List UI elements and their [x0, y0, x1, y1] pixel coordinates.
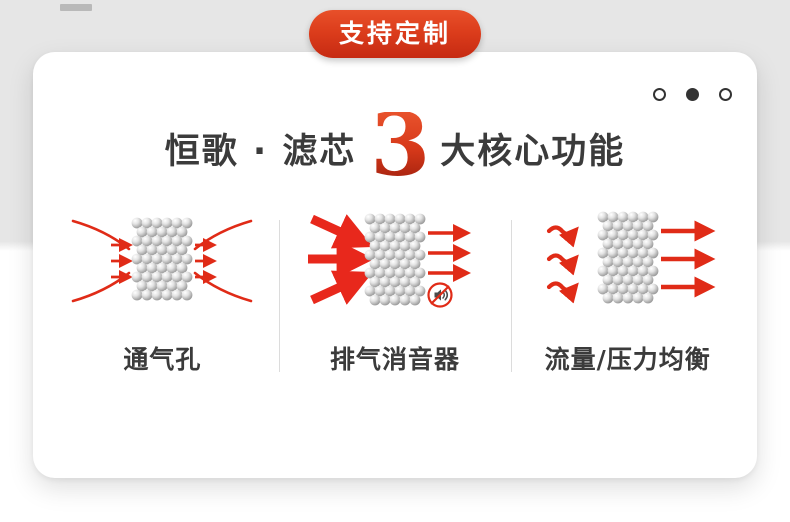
support-customization-badge[interactable]: 支持定制	[309, 10, 481, 58]
feature-flow-pressure-balance-label: 流量/压力均衡	[545, 340, 711, 376]
mute-icon	[429, 284, 452, 307]
feature-flow-pressure-balance-art	[533, 200, 723, 322]
promo-slide: 支持定制 恒歌 · 滤芯 3 大核心功能	[0, 0, 790, 522]
top-tab-mark	[60, 4, 92, 11]
carousel-dot-1[interactable]	[653, 88, 666, 101]
carousel-dots	[653, 88, 732, 101]
filter-media-column	[132, 218, 193, 301]
filter-column-curved-flow-icon	[67, 205, 257, 317]
filter-column-wave-to-straight-flow-icon	[533, 205, 723, 317]
filter-column-thick-arrows-mute-icon	[300, 205, 490, 317]
filter-media-column	[365, 214, 426, 306]
feature-exhaust-silencer-label: 排气消音器	[330, 340, 460, 376]
filter-media-column	[597, 212, 658, 304]
title-suffix: 大核心功能	[440, 123, 625, 174]
feature-vent-hole[interactable]: 通气孔	[46, 200, 279, 390]
page-title: 恒歌 · 滤芯 3 大核心功能	[0, 100, 790, 174]
feature-exhaust-silencer[interactable]: 排气消音器	[279, 200, 512, 390]
feature-flow-pressure-balance[interactable]: 流量/压力均衡	[511, 200, 744, 390]
feature-list: 通气孔	[46, 200, 744, 390]
feature-exhaust-silencer-art	[300, 200, 490, 322]
feature-vent-hole-label: 通气孔	[123, 340, 201, 376]
title-number: 3	[370, 112, 430, 179]
title-prefix: 恒歌 · 滤芯	[165, 123, 357, 174]
carousel-dot-3[interactable]	[719, 88, 732, 101]
feature-vent-hole-art	[67, 200, 257, 322]
carousel-dot-2[interactable]	[686, 88, 699, 101]
